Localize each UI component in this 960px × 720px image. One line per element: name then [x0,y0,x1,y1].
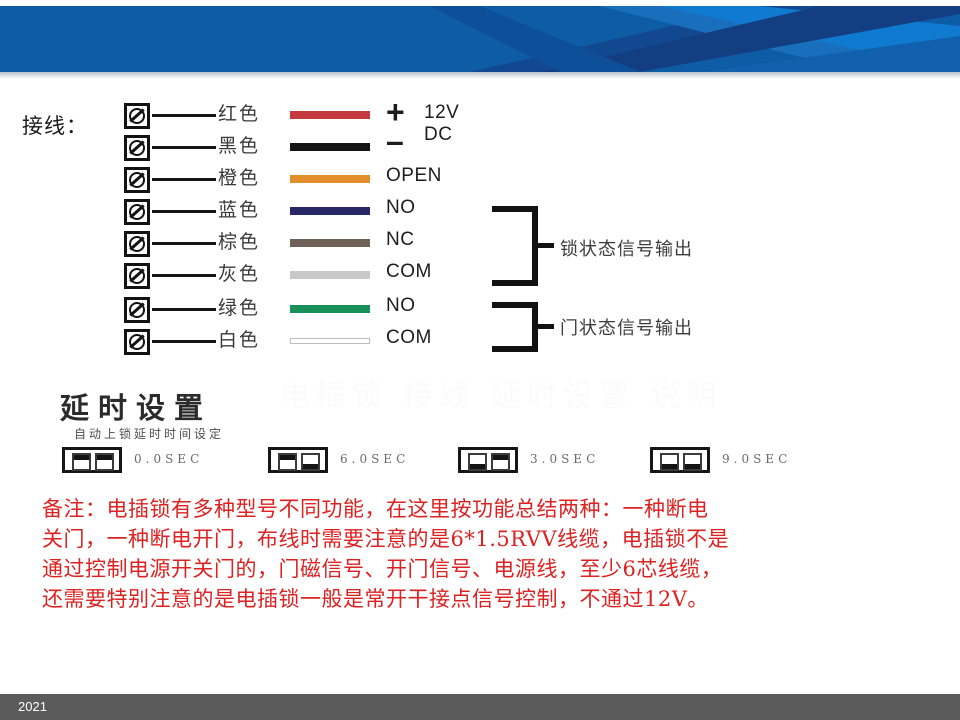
banner-geometric-pattern [0,6,960,72]
wire-color-swatch [290,239,370,247]
lead-wire [152,114,216,117]
lead-wire [152,178,216,181]
screw-terminal-icon[interactable] [124,329,150,355]
remark-note: 备注：电插锁有多种型号不同功能，在这里按功能总结两种：一种断电 关门，一种断电开… [42,494,922,614]
screw-terminal-icon[interactable] [124,231,150,257]
wire-color-label: 红色 [218,99,260,126]
wire-function-label: NC [386,229,414,251]
lead-wire [152,308,216,311]
wire-color-swatch [290,271,370,279]
screw-terminal-icon[interactable] [124,297,150,323]
dip-switch-caption: 9.0SEC [722,452,791,466]
remark-line: 还需要特别注意的是电插锁一般是常开干接点信号控制，不通过12V。 [42,584,922,614]
wire-color-label: 蓝色 [218,195,260,222]
wire-color-label: 棕色 [218,227,260,254]
wire-function-label: COM [386,327,432,349]
dip-toggle-2[interactable] [301,453,320,471]
lead-wire [152,210,216,213]
screw-terminal-icon[interactable] [124,199,150,225]
dip-toggle-1[interactable] [278,453,297,471]
lead-wire [152,274,216,277]
dip-toggle-2[interactable] [95,453,114,471]
screw-terminal-icon[interactable] [124,135,150,161]
wire-function-label: NO [386,197,416,219]
lead-wire [152,340,216,343]
lead-wire [152,242,216,245]
dip-toggle-1[interactable] [660,453,679,471]
banner-shadow [0,72,960,79]
footer-bar: 2021 [0,694,960,720]
delay-setting-subtitle: 自动上锁延时时间设定 [74,425,224,442]
remark-line: 关门，一种断电开门，布线时需要注意的是6*1.5RVV线缆，电插锁不是 [42,524,922,554]
wire-color-label: 白色 [218,325,260,352]
wiring-title: 接线： [22,110,88,140]
screw-terminal-icon[interactable] [124,167,150,193]
wire-color-swatch [290,305,370,313]
dip-switch-caption: 0.0SEC [134,452,203,466]
door-status-bracket [492,302,554,352]
wire-color-label: 绿色 [218,293,260,320]
delay-setting-section: 延时设置 自动上锁延时时间设定 0.0SEC 6.0SEC 3.0SEC 9.0… [0,385,960,485]
wire-function-label: COM [386,261,432,283]
remark-line: 备注：电插锁有多种型号不同功能，在这里按功能总结两种：一种断电 [42,494,922,524]
wire-color-swatch [290,207,370,215]
wire-color-label: 黑色 [218,131,260,158]
lead-wire [152,146,216,149]
header-banner [0,6,960,72]
wire-color-label: 灰色 [218,259,260,286]
wiring-diagram: 接线： 红色 + 12V DC 黑色 – 橙色 OPEN 蓝色 NO 棕色 [0,88,960,378]
voltage-label: 12V DC [424,102,459,146]
lock-status-bracket [492,206,554,286]
lock-status-bracket-label: 锁状态信号输出 [560,235,693,261]
footer-year: 2021 [18,699,47,714]
wire-color-swatch [290,338,370,344]
dip-toggle-1[interactable] [72,453,91,471]
wire-color-swatch [290,111,370,119]
remark-line: 通过控制电源开关门的，门磁信号、开门信号、电源线，至少6芯线缆， [42,554,922,584]
minus-sign-icon: – [386,123,404,160]
wire-function-label: OPEN [386,165,442,187]
dip-switch-caption: 6.0SEC [340,452,409,466]
dip-toggle-2[interactable] [683,453,702,471]
delay-setting-title: 延时设置 [60,385,212,427]
door-status-bracket-label: 门状态信号输出 [560,314,693,340]
dip-switch-caption: 3.0SEC [530,452,599,466]
wire-function-label: NO [386,295,416,317]
wire-color-swatch [290,143,370,151]
dip-toggle-1[interactable] [468,453,487,471]
screw-terminal-icon[interactable] [124,263,150,289]
screw-terminal-icon[interactable] [124,103,150,129]
dip-toggle-2[interactable] [491,453,510,471]
wire-color-label: 橙色 [218,163,260,190]
wire-color-swatch [290,175,370,183]
